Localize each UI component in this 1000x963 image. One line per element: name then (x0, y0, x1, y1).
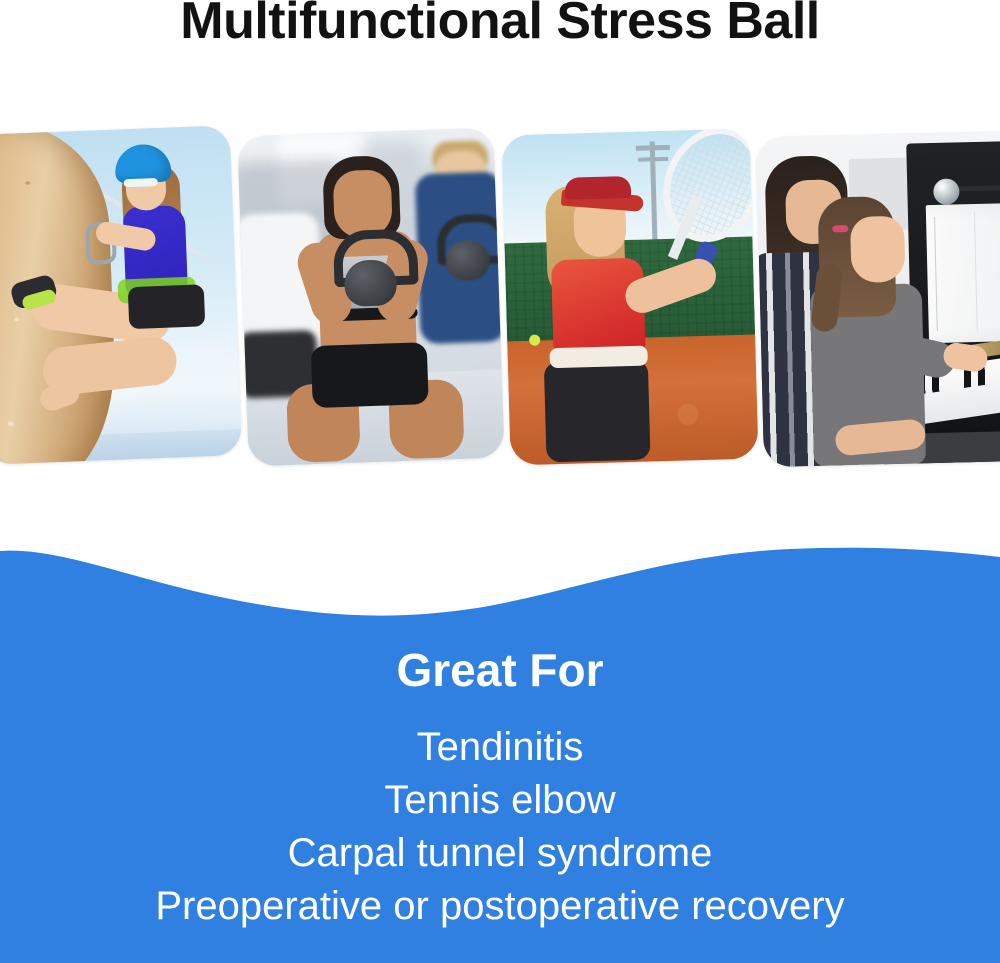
benefit-item-1: Tendinitis (0, 721, 1000, 774)
tennis-scene (501, 129, 758, 466)
helmet-strap (124, 178, 158, 187)
player-waistband (549, 346, 648, 369)
girl-hair-clip (832, 225, 848, 232)
kettlebell-body (344, 259, 398, 307)
photo-gallery (0, 120, 1000, 470)
wave-divider (0, 533, 1000, 653)
photo-card-rock-climbing (0, 125, 242, 465)
piano-scene (756, 131, 1000, 467)
promo-content: Great For Tendinitis Tennis elbow Carpal… (0, 641, 1000, 933)
floodlight-bar-top (636, 145, 670, 151)
gym-scene (237, 128, 504, 467)
page-title: Multifunctional Stress Ball (0, 0, 1000, 52)
benefit-item-4: Preoperative or postoperative recovery (0, 880, 1000, 933)
benefit-item-2: Tennis elbow (0, 774, 1000, 827)
climber-shorts (128, 284, 206, 329)
girl-face (850, 216, 906, 283)
photo-card-tennis (501, 129, 758, 466)
photo-card-gym-kettlebell (237, 128, 504, 467)
promo-panel: Great For Tendinitis Tennis elbow Carpal… (0, 533, 1000, 963)
rock-climbing-scene (0, 125, 242, 465)
player-shorts (544, 360, 651, 463)
red-visor (565, 176, 632, 200)
athlete-shorts (311, 342, 429, 408)
piano-lamp-arm (957, 185, 1000, 191)
photo-card-piano-lesson (756, 131, 1000, 467)
floodlight-bar-lower (638, 157, 668, 162)
benefit-item-3: Carpal tunnel syndrome (0, 827, 1000, 880)
promo-heading: Great For (0, 641, 1000, 699)
